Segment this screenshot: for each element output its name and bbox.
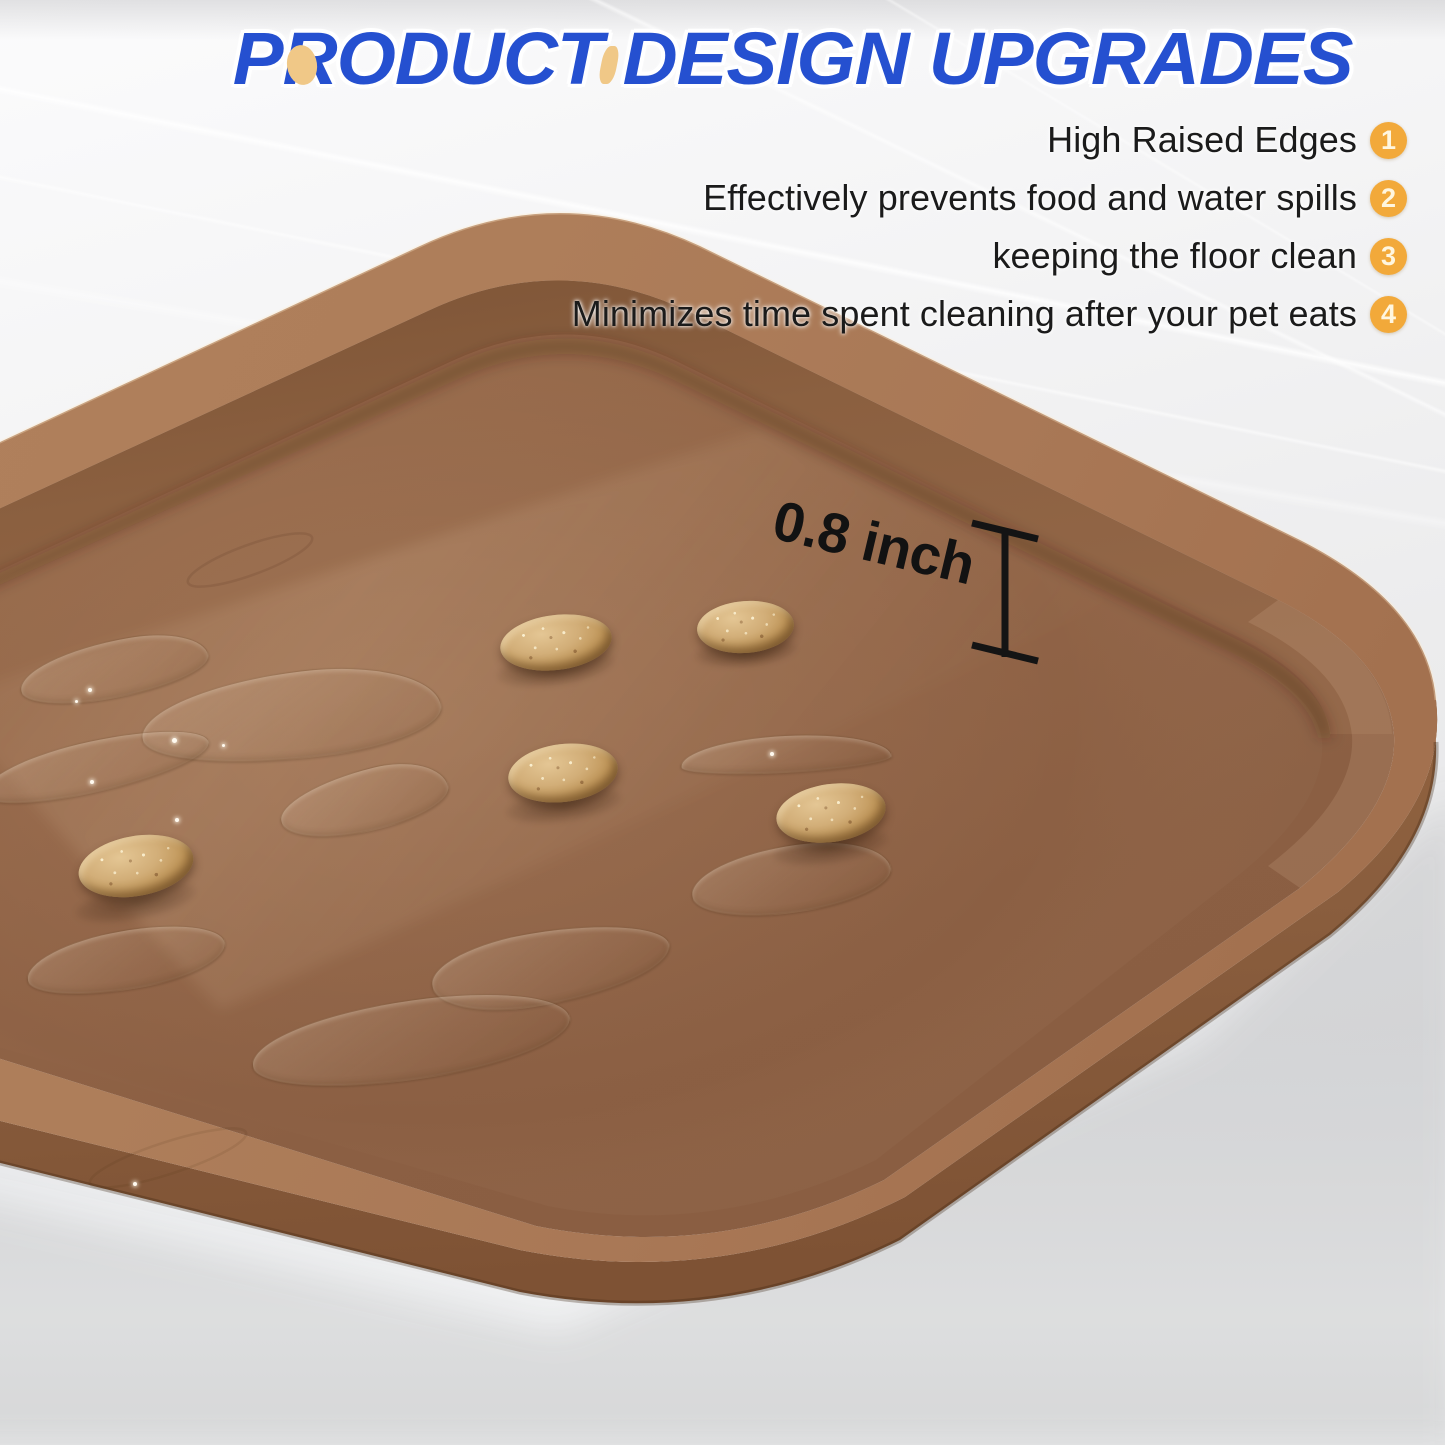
feature-label: Minimizes time spent cleaning after your… xyxy=(572,293,1357,335)
feature-item: Minimizes time spent cleaning after your… xyxy=(407,292,1407,336)
feature-item: keeping the floor clean 3 xyxy=(407,234,1407,278)
feature-number-badge: 3 xyxy=(1370,238,1407,275)
water-sparkle-2 xyxy=(75,700,78,703)
feature-number-badge: 4 xyxy=(1370,296,1407,333)
feature-item: Effectively prevents food and water spil… xyxy=(407,176,1407,220)
water-sparkle-1 xyxy=(88,688,92,692)
feature-item: High Raised Edges 1 xyxy=(407,118,1407,162)
water-sparkle-8 xyxy=(133,1182,137,1186)
water-sparkle-5 xyxy=(90,780,94,784)
product-infographic-canvas: 0.8 inch PRODUCT DESIGN UPGRADES High Ra… xyxy=(0,0,1445,1445)
feature-number-badge: 1 xyxy=(1370,122,1407,159)
feature-list: High Raised Edges 1 Effectively prevents… xyxy=(407,118,1407,350)
water-sparkle-4 xyxy=(222,744,225,747)
feature-number-badge: 2 xyxy=(1370,180,1407,217)
feature-label: High Raised Edges xyxy=(1047,119,1357,161)
water-sparkle-3 xyxy=(172,738,177,743)
feature-label: Effectively prevents food and water spil… xyxy=(703,177,1357,219)
dimension-i-beam-icon xyxy=(930,495,1060,695)
water-sparkle-7 xyxy=(770,752,774,756)
water-sparkle-6 xyxy=(175,818,179,822)
feature-label: keeping the floor clean xyxy=(992,235,1357,277)
page-title: PRODUCT DESIGN UPGRADES xyxy=(118,16,1445,101)
